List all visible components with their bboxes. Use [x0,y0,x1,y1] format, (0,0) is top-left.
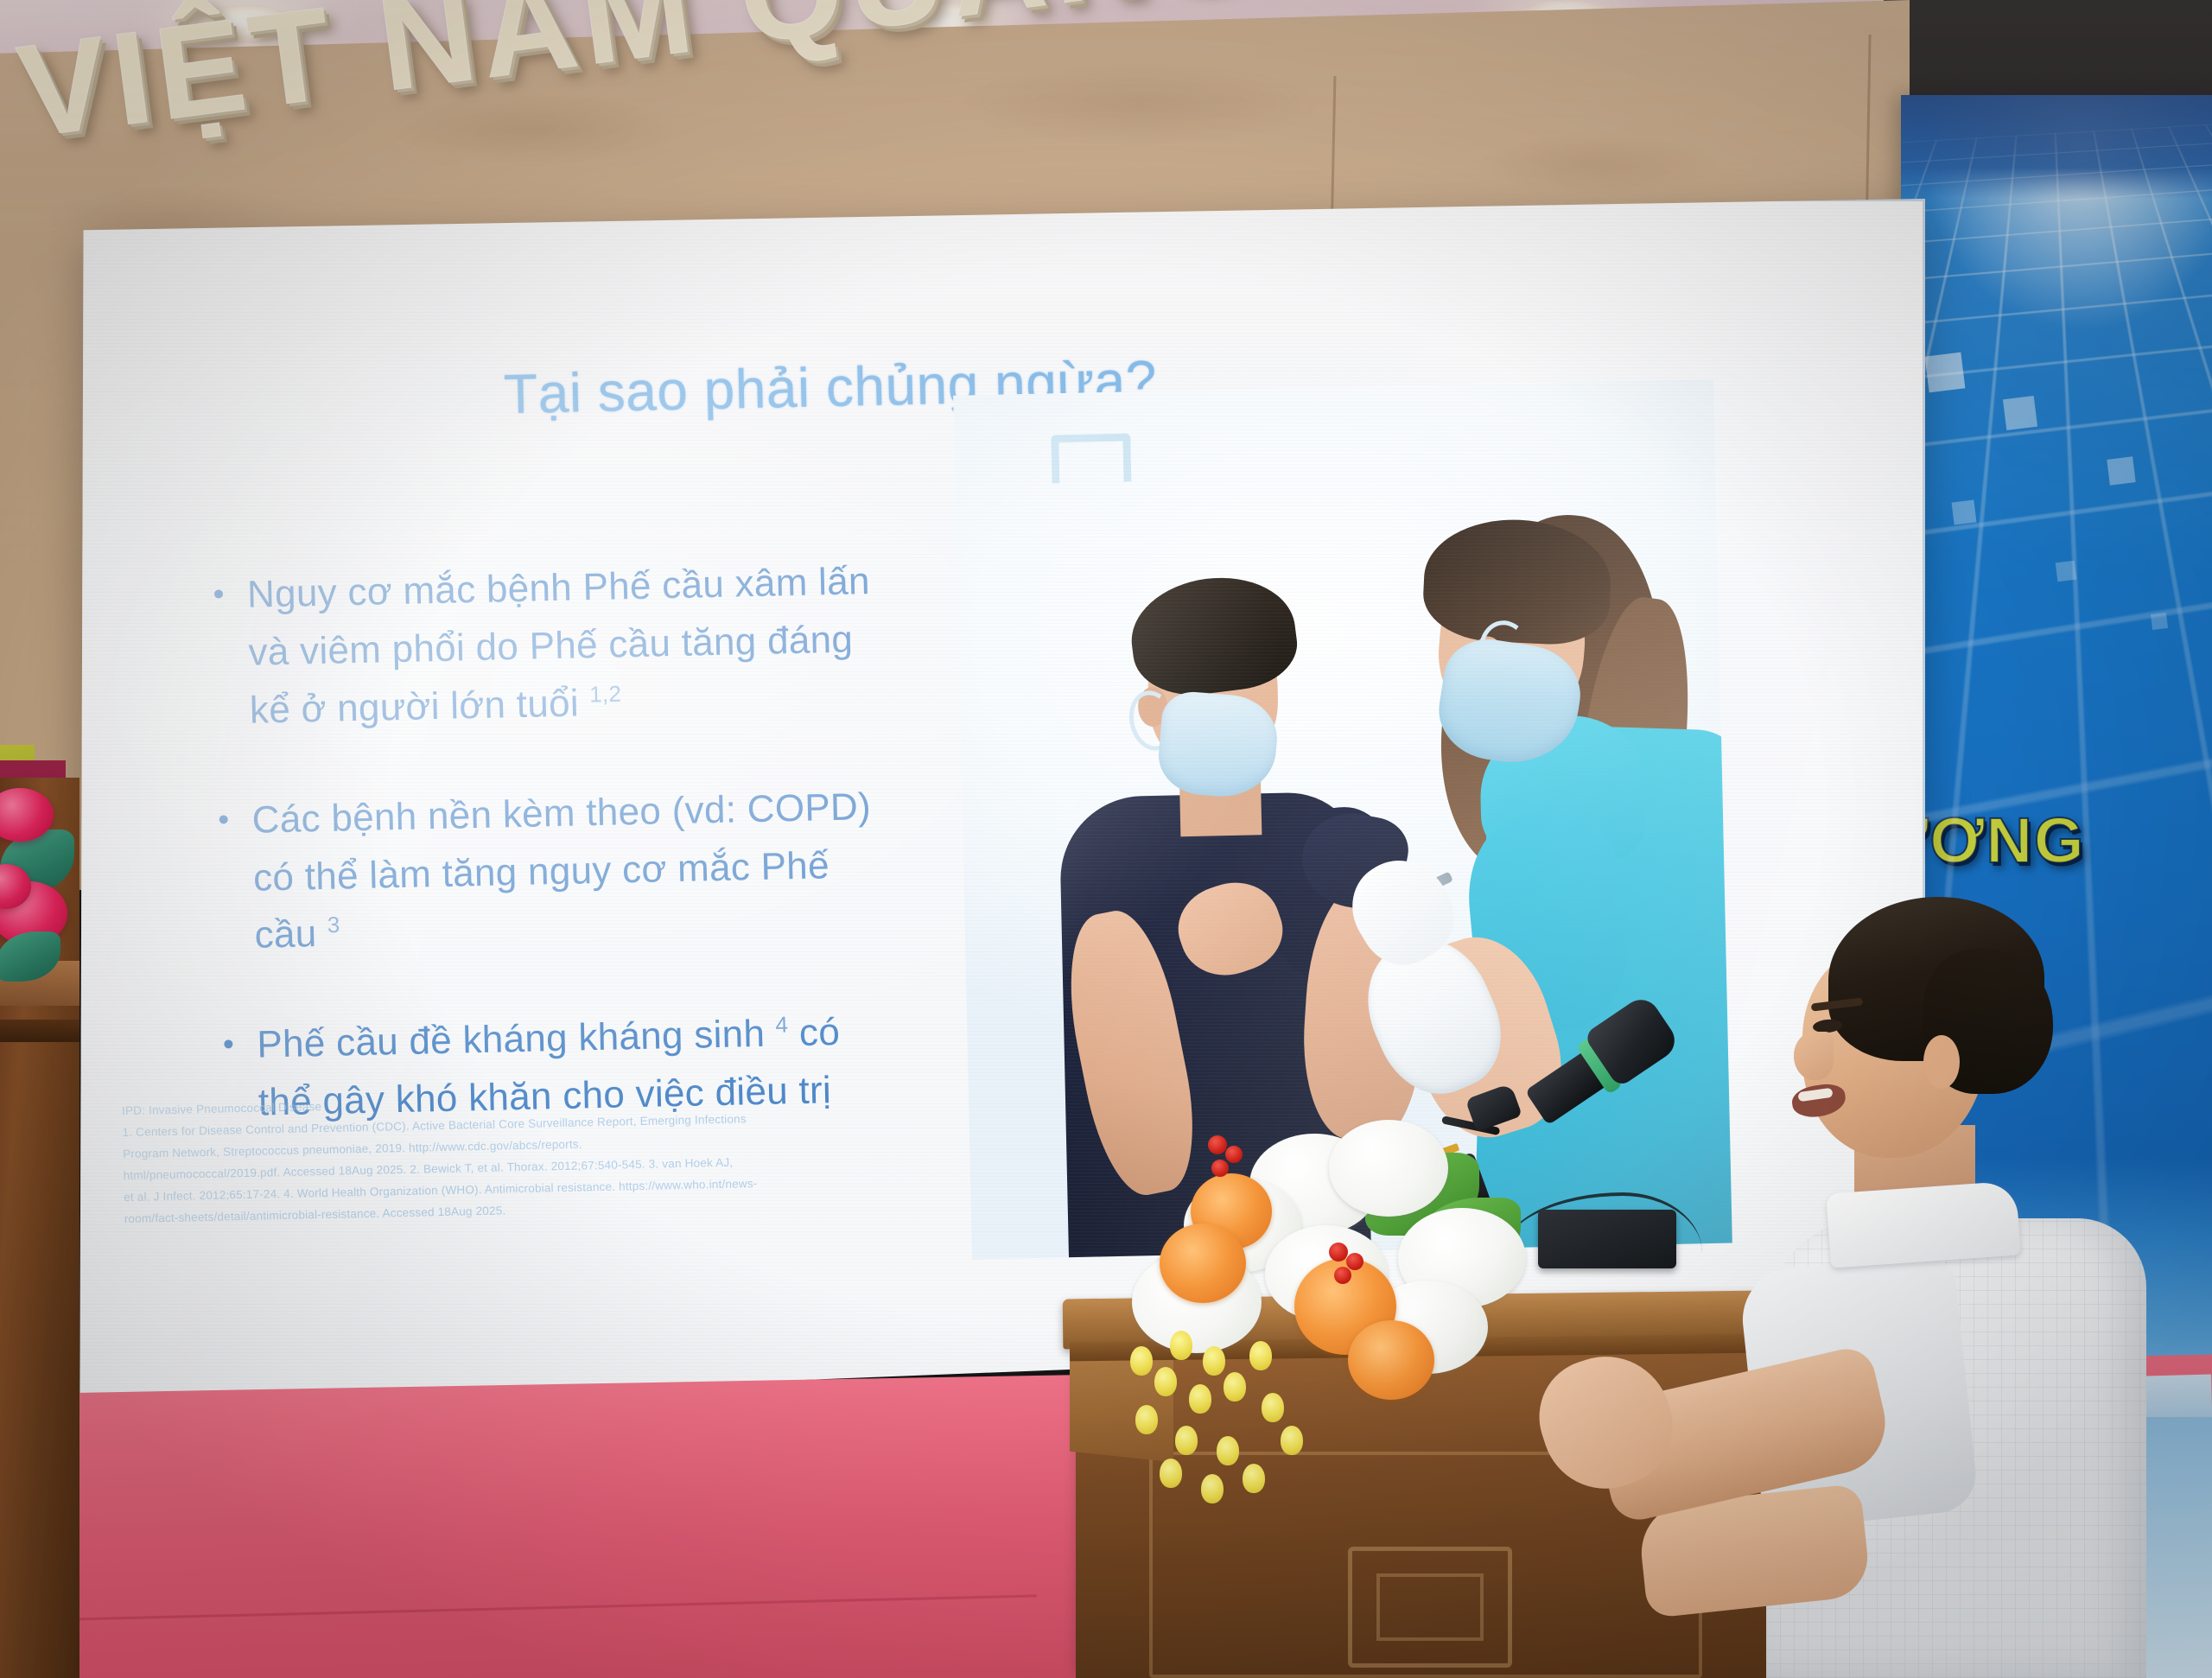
yellow-orchid [1224,1372,1246,1402]
backdrop-square [1952,500,1977,525]
presenter-ear [1923,1035,1960,1089]
yellow-orchid [1201,1474,1224,1503]
yellow-orchid [1249,1341,1272,1370]
conference-room-scene: VIỆT NAM QUANG VINH MUÔN NĂM ƯƠNG Tại sa… [0,0,2212,1678]
flower-arrangement [1080,1115,1616,1503]
bullet-body: Các bệnh nền kèm theo (vd: COPD) có thể … [251,785,871,957]
bullet-body: Phế cầu đề kháng kháng sinh [257,1013,766,1066]
yellow-orchid [1130,1346,1153,1376]
yellow-orchid [1154,1367,1177,1396]
podium-emblem [1348,1547,1512,1668]
list-item: Nguy cơ mắc bệnh Phế cầu xâm lấn và viêm… [213,553,891,741]
bullet-text: Nguy cơ mắc bệnh Phế cầu xâm lấn và viêm… [246,553,891,740]
berry [1208,1135,1227,1154]
bullet-reference: 1,2 [589,680,622,707]
yellow-orchid [1170,1331,1192,1360]
yellow-orchid [1243,1464,1265,1493]
backdrop-banner-text: ƯƠNG [1901,804,2086,877]
backdrop-square [2107,456,2135,485]
orange-rose [1160,1224,1246,1303]
list-item: Các bệnh nền kèm theo (vd: COPD) có thể … [219,778,896,966]
bullet-dot-icon [224,1040,232,1049]
presenter-nose [1794,1032,1834,1080]
yellow-orchid [1189,1384,1211,1414]
yellow-orchid [1262,1393,1284,1422]
white-flower [1329,1120,1448,1217]
bullet-reference: 3 [327,912,340,938]
backdrop-square [2151,613,2168,630]
berry [1211,1160,1229,1177]
backdrop-square [2056,561,2077,582]
slide-footnotes: IPD: Invasive Pneumococcal Disease 1. Ce… [122,1082,997,1230]
yellow-orchid [1281,1426,1303,1455]
bullet-dot-icon [219,815,228,823]
bullet-text: Các bệnh nền kèm theo (vd: COPD) có thể … [251,778,896,965]
presenter [1745,890,2212,1678]
yellow-orchid [1203,1346,1225,1376]
yellow-orchid [1160,1459,1182,1488]
backdrop-square [1925,353,1966,393]
yellow-orchid [1135,1405,1158,1434]
berry [1329,1243,1348,1262]
yellow-orchid [1175,1426,1198,1455]
bullet-reference: 4 [775,1012,788,1038]
orange-rose [1348,1320,1434,1400]
berry [1334,1267,1351,1284]
photo-watermark-icon [1051,433,1131,483]
backdrop-square [2003,396,2037,430]
presenter-collar [1826,1180,2020,1268]
bullet-dot-icon [214,589,223,598]
yellow-orchid [1217,1436,1239,1465]
pillar-trim [0,1020,79,1042]
berry [1346,1253,1363,1270]
bullet-body: Nguy cơ mắc bệnh Phế cầu xâm lấn và viêm… [247,560,871,731]
berry [1225,1146,1243,1163]
